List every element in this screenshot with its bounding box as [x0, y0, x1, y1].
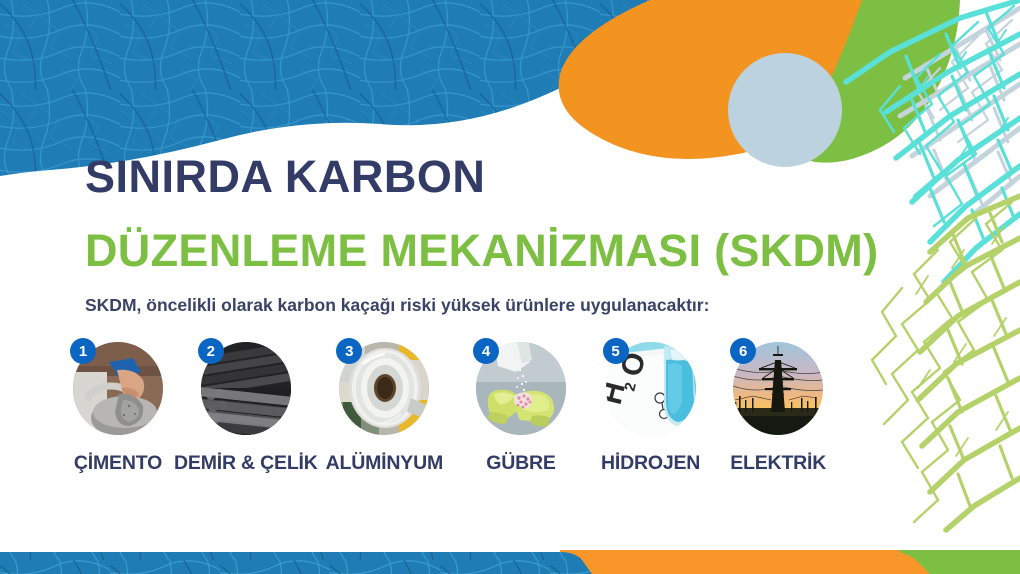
item-label: ALÜMİNYUM — [326, 452, 443, 475]
list-item: 3 ALÜMİNYUM — [326, 338, 443, 475]
item-label: ÇİMENTO — [74, 452, 162, 475]
page-subtitle: DÜZENLEME MEKANİZMASI (SKDM) — [85, 226, 878, 276]
lead-paragraph: SKDM, öncelikli olarak karbon kaçağı ris… — [85, 293, 709, 317]
list-item: 1 ÇİMENTO — [70, 338, 166, 475]
item-number-badge: 6 — [730, 338, 756, 364]
item-number-badge: 2 — [198, 338, 224, 364]
item-label: HİDROJEN — [601, 452, 700, 475]
thumbnail-wrapper: 2 — [198, 338, 294, 438]
item-label: ELEKTRİK — [730, 452, 826, 475]
list-item: 4 GÜBRE — [473, 338, 569, 475]
item-number-badge: 4 — [473, 338, 499, 364]
page-title: SINIRDA KARBON — [85, 152, 485, 202]
thumbnail-wrapper: 6 — [730, 338, 826, 438]
thumbnail-wrapper: 1 — [70, 338, 166, 438]
thumbnail-wrapper: 3 — [336, 338, 432, 438]
item-label: GÜBRE — [486, 452, 555, 475]
item-label: DEMİR & ÇELİK — [174, 452, 318, 475]
list-item: 2 DEMİR & ÇELİK — [174, 338, 318, 475]
list-item: H 2 O — [601, 338, 700, 475]
thumbnail-wrapper: 4 — [473, 338, 569, 438]
thumbnail-wrapper: H 2 O — [603, 338, 699, 438]
item-number-badge: 5 — [603, 338, 629, 364]
list-item: 6 ELEKTRİK — [730, 338, 826, 475]
item-number-badge: 1 — [70, 338, 96, 364]
product-list: 1 ÇİMENTO — [70, 338, 870, 488]
poster-canvas: SINIRDA KARBON DÜZENLEME MEKANİZMASI (SK… — [0, 0, 1020, 574]
